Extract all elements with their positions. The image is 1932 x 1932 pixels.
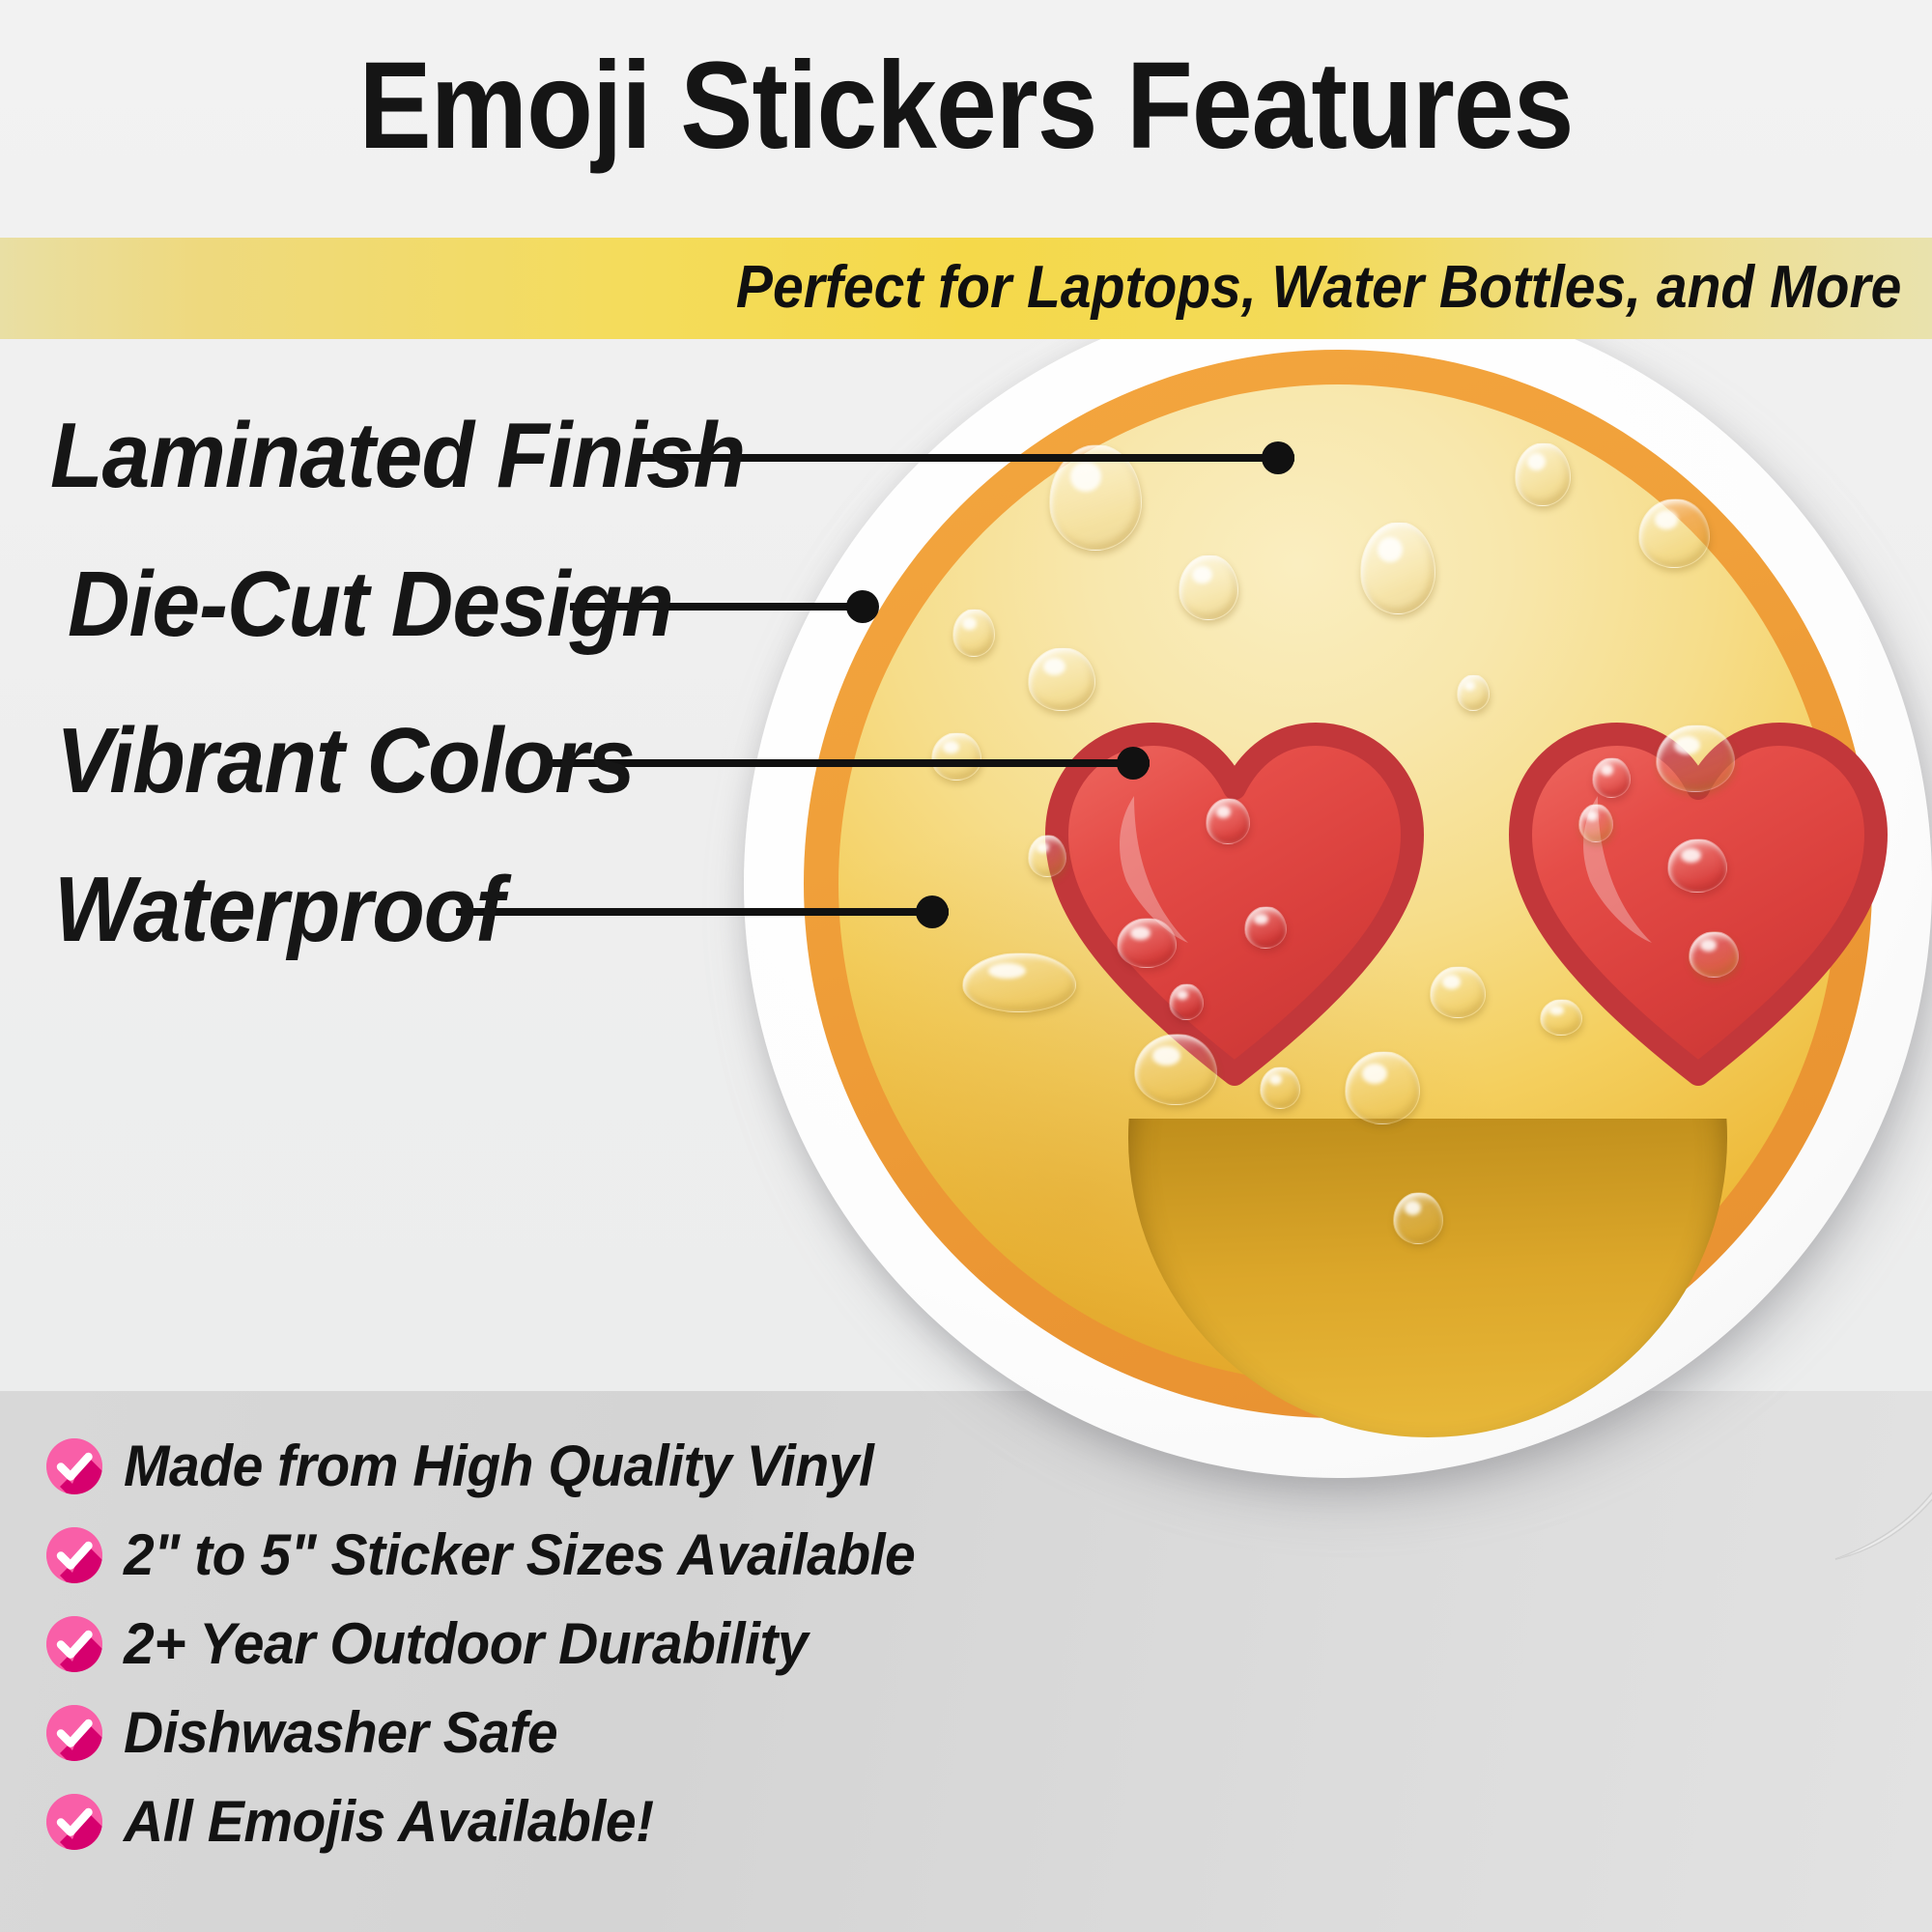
heart-eye-left-icon	[1041, 711, 1428, 1097]
water-droplet	[1345, 1051, 1420, 1124]
water-droplet	[1457, 674, 1490, 711]
emoji-mouth	[1128, 1119, 1727, 1437]
water-droplet	[1028, 647, 1095, 711]
feature-label-vibrant-colors: Vibrant Colors	[56, 715, 635, 808]
feature-label-waterproof: Waterproof	[54, 864, 503, 956]
water-droplet-on-heart	[1667, 838, 1727, 893]
water-droplet-on-heart	[1117, 918, 1177, 968]
subtitle-banner: Perfect for Laptops, Water Bottles, and …	[0, 238, 1932, 339]
water-droplet	[1134, 1034, 1217, 1105]
emoji-sticker-artwork	[744, 290, 1932, 1565]
water-droplet	[1430, 966, 1486, 1018]
leader-dot-laminated-finish	[1262, 441, 1294, 474]
check-circle-icon	[46, 1705, 102, 1761]
emoji-face	[838, 384, 1837, 1383]
feature-label-laminated-finish: Laminated Finish	[50, 410, 745, 502]
water-droplet-on-heart	[1592, 757, 1631, 798]
list-item: Dishwasher Safe	[46, 1689, 1012, 1777]
emoji-mouth-inner	[1128, 1119, 1727, 1437]
feature-label-die-cut-design: Die-Cut Design	[68, 558, 673, 651]
list-item: All Emojis Available!	[46, 1777, 1012, 1866]
feature-bullet-list: Made from High Quality Vinyl 2" to 5" St…	[46, 1422, 1012, 1866]
list-item-label: All Emojis Available!	[124, 1792, 654, 1852]
leader-dot-waterproof	[916, 895, 949, 928]
water-droplet	[1515, 442, 1571, 506]
check-circle-icon	[46, 1794, 102, 1850]
check-circle-icon	[46, 1527, 102, 1583]
page-title: Emoji Stickers Features	[116, 44, 1816, 168]
water-droplet	[1360, 522, 1435, 614]
list-item-label: 2+ Year Outdoor Durability	[124, 1614, 808, 1674]
list-item: Made from High Quality Vinyl	[46, 1422, 1012, 1511]
infographic-page: Emoji Stickers Features Perfect for Lapt…	[0, 0, 1932, 1932]
leader-dot-die-cut-design	[846, 590, 879, 623]
banner-subtitle-text: Perfect for Laptops, Water Bottles, and …	[736, 249, 1901, 327]
water-droplet-on-heart	[1169, 983, 1204, 1020]
leader-line-waterproof	[456, 908, 949, 916]
water-droplet	[1578, 804, 1613, 842]
water-droplet	[1260, 1066, 1300, 1109]
check-circle-icon	[46, 1438, 102, 1494]
leader-dot-vibrant-colors	[1117, 747, 1150, 780]
list-item-label: Dishwasher Safe	[124, 1703, 557, 1763]
list-item-label: 2" to 5" Sticker Sizes Available	[124, 1525, 915, 1585]
water-droplet	[1179, 554, 1238, 620]
water-droplet	[1656, 724, 1735, 792]
water-droplet	[952, 609, 995, 657]
list-item-label: Made from High Quality Vinyl	[124, 1436, 873, 1496]
water-droplet-on-heart	[1244, 906, 1287, 949]
leader-line-vibrant-colors	[549, 759, 1150, 767]
water-droplet	[1540, 999, 1582, 1036]
water-droplet	[1028, 835, 1066, 877]
list-item: 2" to 5" Sticker Sizes Available	[46, 1511, 1012, 1600]
water-droplet	[1689, 931, 1739, 978]
water-droplet	[1638, 498, 1710, 568]
water-droplet	[931, 732, 981, 781]
water-droplet-on-heart	[1206, 798, 1250, 844]
water-droplet	[962, 952, 1076, 1012]
sticker-peel-corner	[1781, 1366, 1932, 1569]
list-item: 2+ Year Outdoor Durability	[46, 1600, 1012, 1689]
water-droplet	[1393, 1192, 1443, 1244]
check-circle-icon	[46, 1616, 102, 1672]
